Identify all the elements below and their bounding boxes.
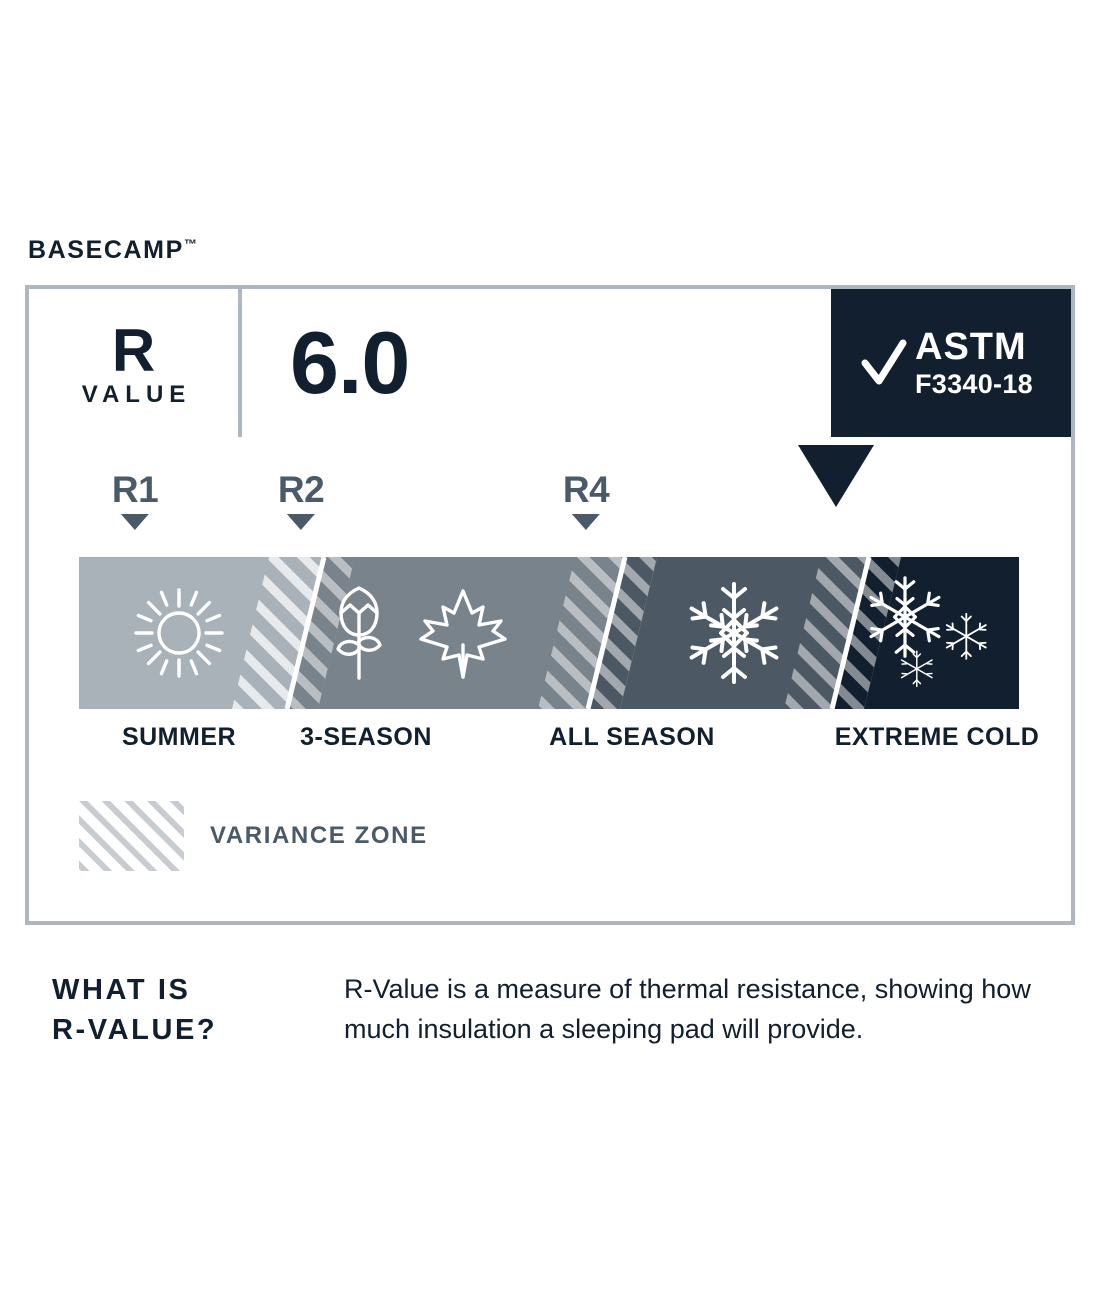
season-bar-graphic bbox=[79, 557, 1019, 709]
astm-standard: ASTM bbox=[915, 328, 1027, 366]
r-value-number-cell: 6.0 bbox=[242, 289, 831, 437]
astm-spec: F3340-18 bbox=[915, 371, 1033, 398]
explainer-title: WHAT IS R-VALUE? bbox=[52, 970, 300, 1050]
explainer-title-line1: WHAT IS bbox=[52, 970, 300, 1010]
r-value-header-row: R VALUE 6.0 ASTM F3340-18 bbox=[29, 289, 1071, 437]
tick-arrow-icon bbox=[287, 514, 315, 530]
scale-tick-label: R4 bbox=[563, 471, 609, 508]
variance-zone-label: VARIANCE ZONE bbox=[210, 822, 428, 850]
scale-ticks: R1 R2 R4 bbox=[29, 441, 1071, 557]
diagonal-hatch-swatch-icon bbox=[79, 801, 184, 871]
temperature-scale: R1 R2 R4 bbox=[29, 441, 1071, 925]
tick-arrow-icon bbox=[572, 514, 600, 530]
trademark-symbol: ™ bbox=[184, 237, 197, 252]
variance-zone-legend: VARIANCE ZONE bbox=[79, 801, 428, 871]
season-bar bbox=[79, 557, 1019, 709]
r-value-infographic: BASECAMP™ R VALUE 6.0 ASTM F3340-18 bbox=[0, 0, 1100, 1300]
scale-tick-r1: R1 bbox=[112, 471, 158, 530]
r-value-panel: R VALUE 6.0 ASTM F3340-18 R1 bbox=[25, 285, 1075, 925]
astm-text-block: ASTM F3340-18 bbox=[915, 328, 1033, 398]
r-value-label-cell: R VALUE bbox=[29, 289, 242, 437]
explainer-title-line2: R-VALUE? bbox=[52, 1010, 300, 1050]
check-icon bbox=[861, 337, 907, 389]
season-label-three-season: 3-SEASON bbox=[300, 723, 432, 752]
value-word: VALUE bbox=[82, 381, 192, 409]
scale-tick-r4: R4 bbox=[563, 471, 609, 530]
season-labels: SUMMER 3-SEASON ALL SEASON EXTREME COLD bbox=[79, 723, 1019, 759]
r-value-number: 6.0 bbox=[290, 319, 409, 407]
what-is-r-value-section: WHAT IS R-VALUE? R-Value is a measure of… bbox=[52, 970, 1052, 1050]
season-label-all-season: ALL SEASON bbox=[549, 723, 715, 752]
r-letter: R bbox=[112, 323, 155, 378]
scale-tick-label: R1 bbox=[112, 471, 158, 508]
r-value-marker-icon bbox=[798, 445, 874, 507]
brand-name: BASECAMP bbox=[28, 236, 184, 264]
tick-arrow-icon bbox=[121, 514, 149, 530]
scale-tick-label: R2 bbox=[278, 471, 324, 508]
season-label-extreme-cold: EXTREME COLD bbox=[835, 723, 1040, 752]
astm-badge: ASTM F3340-18 bbox=[831, 289, 1071, 437]
season-label-summer: SUMMER bbox=[122, 723, 236, 752]
brand-title: BASECAMP™ bbox=[28, 236, 197, 265]
explainer-body: R-Value is a measure of thermal resistan… bbox=[344, 970, 1044, 1050]
scale-tick-r2: R2 bbox=[278, 471, 324, 530]
